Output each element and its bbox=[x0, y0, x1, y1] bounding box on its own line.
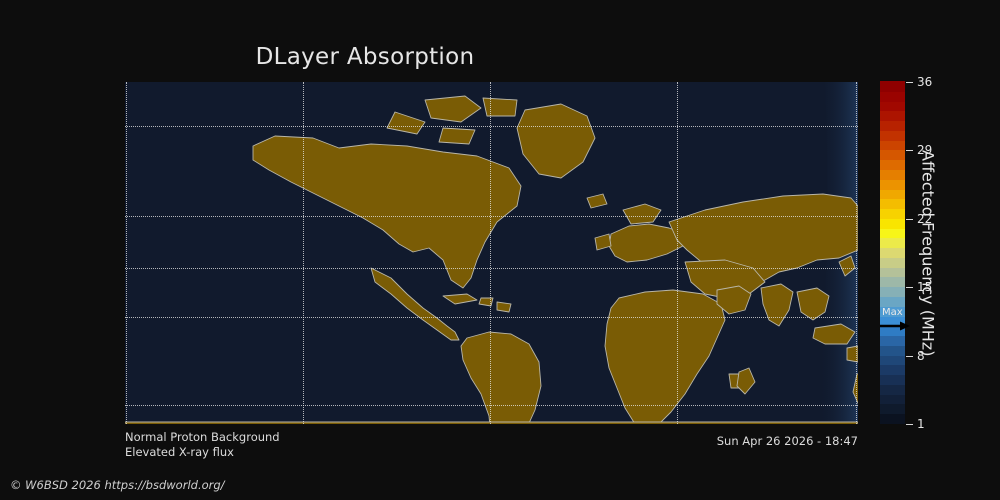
colorbar-segment bbox=[880, 199, 905, 209]
colorbar-segment bbox=[880, 257, 905, 267]
map-canvas bbox=[125, 82, 858, 424]
colorbar-segment bbox=[880, 121, 905, 131]
colorbar-segment bbox=[880, 208, 905, 218]
colorbar-segment bbox=[880, 140, 905, 150]
colorbar-segment bbox=[880, 218, 905, 228]
colorbar-tick bbox=[906, 424, 913, 425]
credit-text: © W6BSD 2026 https://bsdworld.org/ bbox=[10, 478, 225, 492]
colorbar-segment bbox=[880, 248, 905, 258]
colorbar-segment bbox=[880, 91, 905, 101]
colorbar-segment bbox=[880, 345, 905, 355]
colorbar-segment bbox=[880, 384, 905, 394]
colorbar-segment bbox=[880, 111, 905, 121]
colorbar-segment bbox=[880, 160, 905, 170]
antarctica bbox=[125, 422, 858, 424]
colorbar-max-marker: Max bbox=[880, 307, 940, 333]
xray-status-text: Elevated X-ray flux bbox=[125, 445, 234, 459]
colorbar-tick bbox=[906, 150, 913, 151]
colorbar-tick bbox=[906, 356, 913, 357]
colorbar-tick bbox=[906, 82, 913, 83]
dlayer-absorption-plot: DLayer Absorption bbox=[0, 0, 1000, 500]
colorbar-segment bbox=[880, 404, 905, 414]
proton-status-text: Normal Proton Background bbox=[125, 430, 280, 444]
colorbar-segment bbox=[880, 228, 905, 238]
colorbar bbox=[880, 82, 905, 424]
colorbar-segment bbox=[880, 394, 905, 404]
colorbar-tick bbox=[906, 287, 913, 288]
colorbar-segment bbox=[880, 277, 905, 287]
colorbar-segment bbox=[880, 267, 905, 277]
colorbar-segment bbox=[880, 150, 905, 160]
colorbar-segment bbox=[880, 296, 905, 306]
colorbar-segment bbox=[880, 365, 905, 375]
colorbar-segment bbox=[880, 355, 905, 365]
world-map bbox=[125, 82, 858, 424]
colorbar-segment bbox=[880, 375, 905, 385]
colorbar-segment bbox=[880, 81, 905, 91]
page-title: DLayer Absorption bbox=[0, 44, 730, 70]
colorbar-segment bbox=[880, 335, 905, 345]
colorbar-segment bbox=[880, 179, 905, 189]
colorbar-title: Affected Frequency (MHz) bbox=[916, 82, 940, 424]
colorbar-segment bbox=[880, 414, 905, 424]
timestamp: Sun Apr 26 2026 - 18:47 bbox=[717, 434, 858, 448]
colorbar-segment bbox=[880, 189, 905, 199]
colorbar-segment bbox=[880, 238, 905, 248]
max-arrow-icon bbox=[880, 321, 910, 331]
colorbar-segment bbox=[880, 287, 905, 297]
colorbar-segment bbox=[880, 130, 905, 140]
max-marker-label: Max bbox=[882, 307, 903, 318]
colorbar-tick bbox=[906, 219, 913, 220]
colorbar-segment bbox=[880, 101, 905, 111]
colorbar-segment bbox=[880, 169, 905, 179]
